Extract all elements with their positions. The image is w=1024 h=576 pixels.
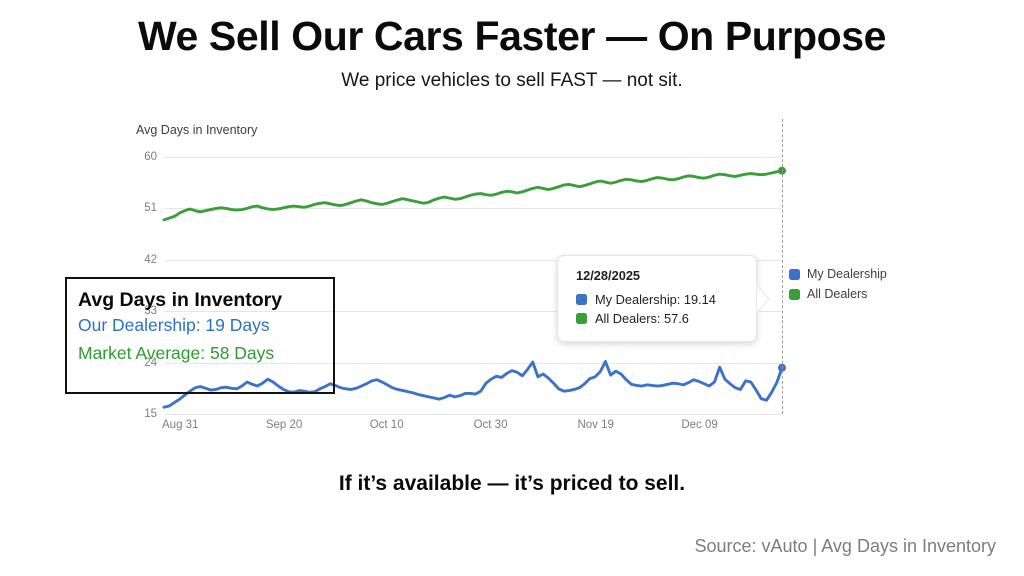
y-axis-tick-label: 42 (144, 254, 157, 266)
tooltip-row-my-dealership: My Dealership: 19.14 (576, 290, 742, 309)
chart-panel: Avg Days in Inventory 605142332415 Aug 3… (0, 112, 1024, 452)
x-axis-tick-label: Dec 09 (681, 419, 717, 431)
annotation-callout: Avg Days in Inventory Our Dealership: 19… (65, 277, 335, 394)
callout-title: Avg Days in Inventory (78, 288, 333, 312)
cursor-line (782, 119, 783, 414)
tooltip-date: 12/28/2025 (576, 268, 742, 283)
x-axis-tick-label: Sep 20 (266, 419, 302, 431)
callout-market-average: Market Average: 58 Days (78, 340, 333, 367)
footer-kicker: If it’s available — it’s priced to sell. (0, 472, 1024, 496)
tooltip-swatch-icon (576, 313, 587, 324)
legend-item-all-dealers[interactable]: All Dealers (789, 284, 887, 304)
y-axis-tick-label: 15 (144, 408, 157, 420)
chart-legend[interactable]: My DealershipAll Dealers (789, 264, 887, 304)
legend-item-my-dealership[interactable]: My Dealership (789, 264, 887, 284)
gridline (164, 414, 782, 415)
x-axis-tick-label: Oct 10 (370, 419, 404, 431)
page-subtitle: We price vehicles to sell FAST — not sit… (0, 70, 1024, 92)
series-line (164, 171, 782, 220)
legend-item-label: All Dealers (807, 287, 867, 301)
tooltip-pointer-icon (757, 286, 770, 312)
legend-swatch-icon (789, 269, 800, 280)
y-axis-tick-label: 60 (144, 151, 157, 163)
x-axis-tick-label: Nov 19 (577, 419, 613, 431)
legend-swatch-icon (789, 289, 800, 300)
callout-our-dealership: Our Dealership: 19 Days (78, 312, 333, 339)
x-axis-tick-label: Oct 30 (474, 419, 508, 431)
y-axis-tick-label: 51 (144, 202, 157, 214)
page-title: We Sell Our Cars Faster — On Purpose (0, 14, 1024, 60)
chart-tooltip: 12/28/2025 My Dealership: 19.14All Deale… (557, 255, 757, 342)
source-attribution: Source: vAuto | Avg Days in Inventory (695, 536, 997, 557)
x-axis-tick-label: Aug 31 (162, 419, 198, 431)
y-axis-title: Avg Days in Inventory (136, 123, 257, 137)
tooltip-row-all-dealers: All Dealers: 57.6 (576, 309, 742, 328)
tooltip-row-label: All Dealers: 57.6 (595, 309, 689, 328)
legend-item-label: My Dealership (807, 267, 887, 281)
tooltip-rows: My Dealership: 19.14All Dealers: 57.6 (576, 290, 742, 328)
tooltip-swatch-icon (576, 294, 587, 305)
tooltip-row-label: My Dealership: 19.14 (595, 290, 716, 309)
